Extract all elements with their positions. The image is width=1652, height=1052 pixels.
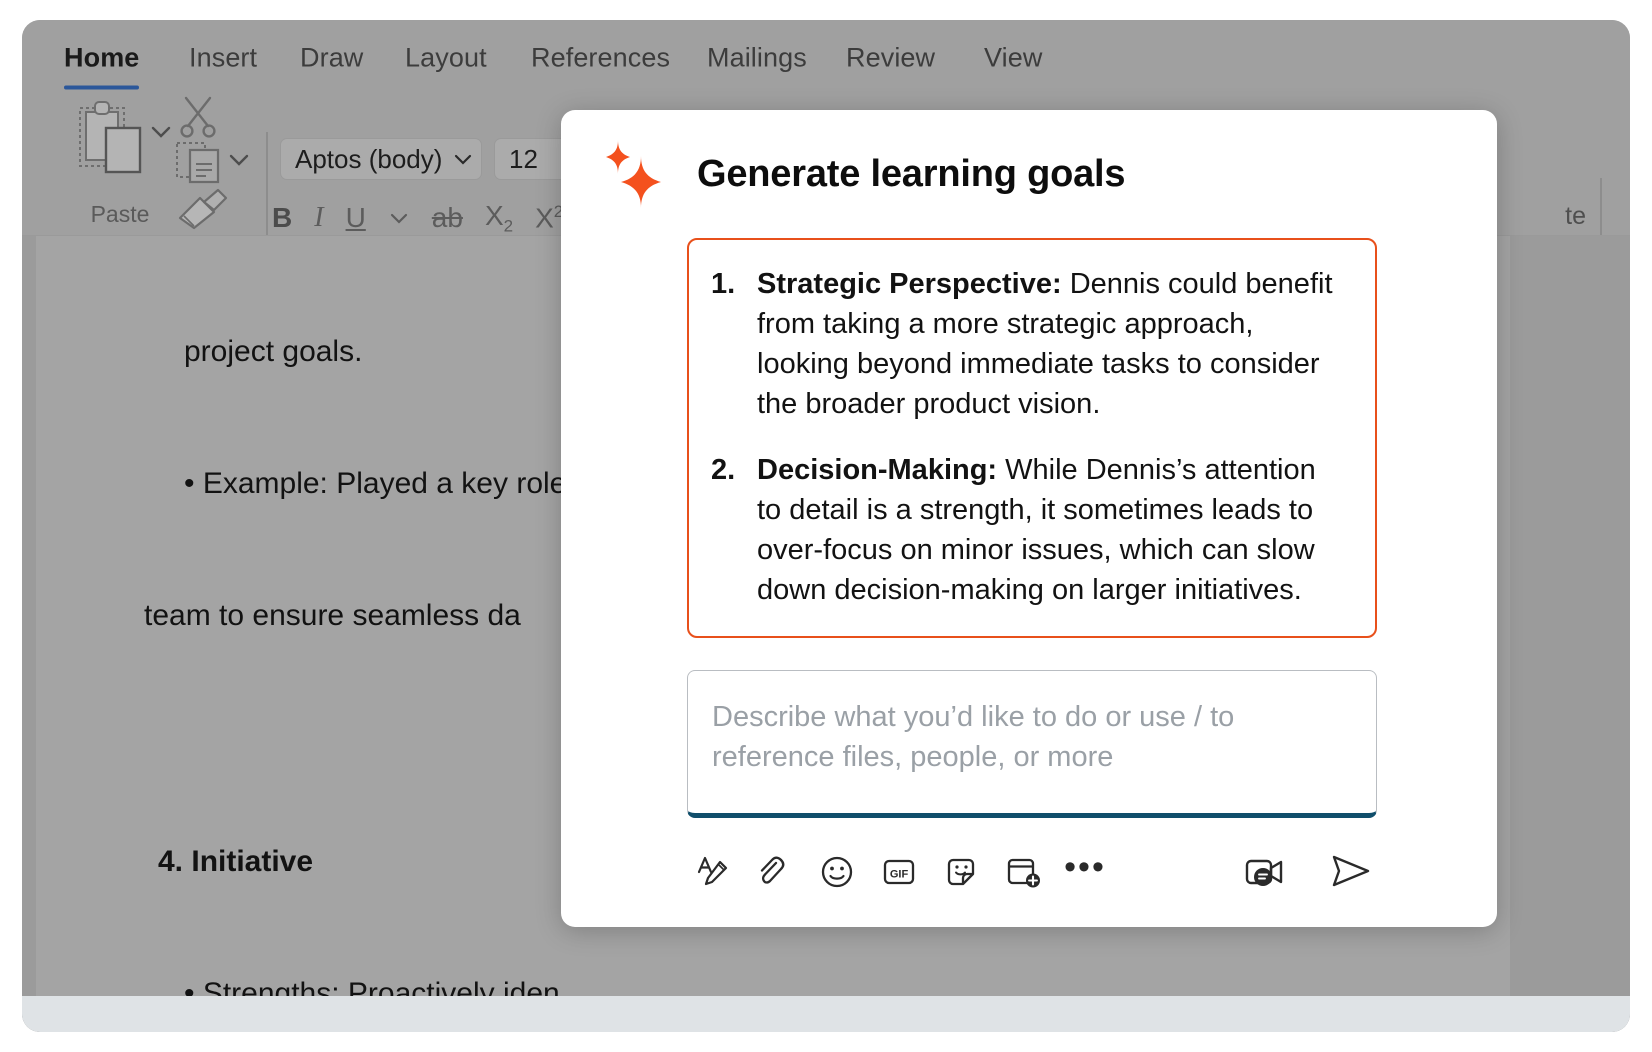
underline-chevron-down-icon[interactable]	[388, 210, 410, 226]
tab-home[interactable]: Home	[64, 43, 139, 74]
more-options-icon[interactable]: •••	[1059, 846, 1111, 898]
format-painter-icon[interactable]	[174, 188, 232, 230]
font-chevron-down-icon[interactable]	[453, 152, 473, 166]
subscript-button[interactable]: X2	[485, 202, 513, 235]
tab-draw[interactable]: Draw	[300, 43, 363, 74]
tab-view[interactable]: View	[984, 43, 1042, 74]
font-name-value: Aptos (body)	[295, 144, 453, 175]
ai-dialog-title: Generate learning goals	[697, 153, 1125, 196]
meeting-video-icon[interactable]	[1237, 846, 1289, 898]
emoji-icon[interactable]	[811, 846, 863, 898]
font-format-buttons: B I U ab X2 X2	[272, 196, 585, 240]
composer-toolbar: GIF	[687, 840, 1377, 904]
tab-mailings[interactable]: Mailings	[707, 43, 807, 74]
prompt-placeholder: Describe what you’d like to do or use / …	[712, 697, 1352, 777]
paste-button[interactable]: Paste	[64, 98, 176, 228]
clipboard-commands	[172, 96, 264, 228]
paste-label: Paste	[64, 201, 176, 228]
chevron-down-icon[interactable]	[150, 124, 172, 140]
clipboard-icon	[76, 98, 152, 184]
more-options-label: •••	[1064, 850, 1106, 884]
ribbon-group-divider-right	[1600, 178, 1602, 236]
add-app-icon[interactable]	[997, 846, 1049, 898]
copy-icon[interactable]	[174, 140, 228, 184]
ai-assistant-dialog[interactable]: Generate learning goals Strategic Perspe…	[561, 110, 1497, 927]
cut-scissors-icon[interactable]	[176, 96, 224, 138]
font-size-value: 12	[509, 144, 538, 175]
italic-button[interactable]: I	[314, 204, 323, 232]
ai-result-panel: Strategic Perspective: Dennis could bene…	[687, 238, 1377, 638]
bold-button[interactable]: B	[272, 204, 292, 232]
send-icon[interactable]	[1325, 846, 1377, 898]
ai-result-item: Decision-Making: While Dennis’s attentio…	[757, 450, 1345, 610]
tab-layout[interactable]: Layout	[405, 43, 487, 74]
dictate-button-label[interactable]: te	[1565, 202, 1586, 231]
tab-insert[interactable]: Insert	[189, 43, 257, 74]
sparkle-icon	[597, 138, 669, 210]
word-application-window: Home Insert Draw Layout References Maili…	[22, 20, 1630, 1032]
ai-result-term: Decision-Making:	[757, 454, 997, 486]
gif-icon[interactable]: GIF	[873, 846, 925, 898]
format-text-icon[interactable]	[687, 846, 739, 898]
sticker-icon[interactable]	[935, 846, 987, 898]
ribbon-group-divider	[266, 132, 268, 240]
tab-review[interactable]: Review	[846, 43, 935, 74]
tab-references[interactable]: References	[531, 43, 670, 74]
status-bar-strip	[22, 996, 1630, 1032]
ribbon-tab-strip: Home Insert Draw Layout References Maili…	[22, 20, 1630, 88]
ai-dialog-header: Generate learning goals	[561, 110, 1497, 238]
ai-result-list: Strategic Perspective: Dennis could bene…	[711, 264, 1345, 610]
svg-text:GIF: GIF	[890, 869, 909, 881]
attach-file-icon[interactable]	[749, 846, 801, 898]
ai-result-item: Strategic Perspective: Dennis could bene…	[757, 264, 1345, 424]
underline-button[interactable]: U	[346, 204, 366, 232]
strikethrough-button[interactable]: ab	[432, 204, 463, 232]
font-name-combobox[interactable]: Aptos (body)	[280, 138, 482, 180]
copy-chevron-down-icon[interactable]	[228, 152, 250, 168]
superscript-button[interactable]: X2	[535, 203, 563, 232]
prompt-input[interactable]: Describe what you’d like to do or use / …	[687, 670, 1377, 818]
ai-result-term: Strategic Perspective:	[757, 268, 1062, 300]
